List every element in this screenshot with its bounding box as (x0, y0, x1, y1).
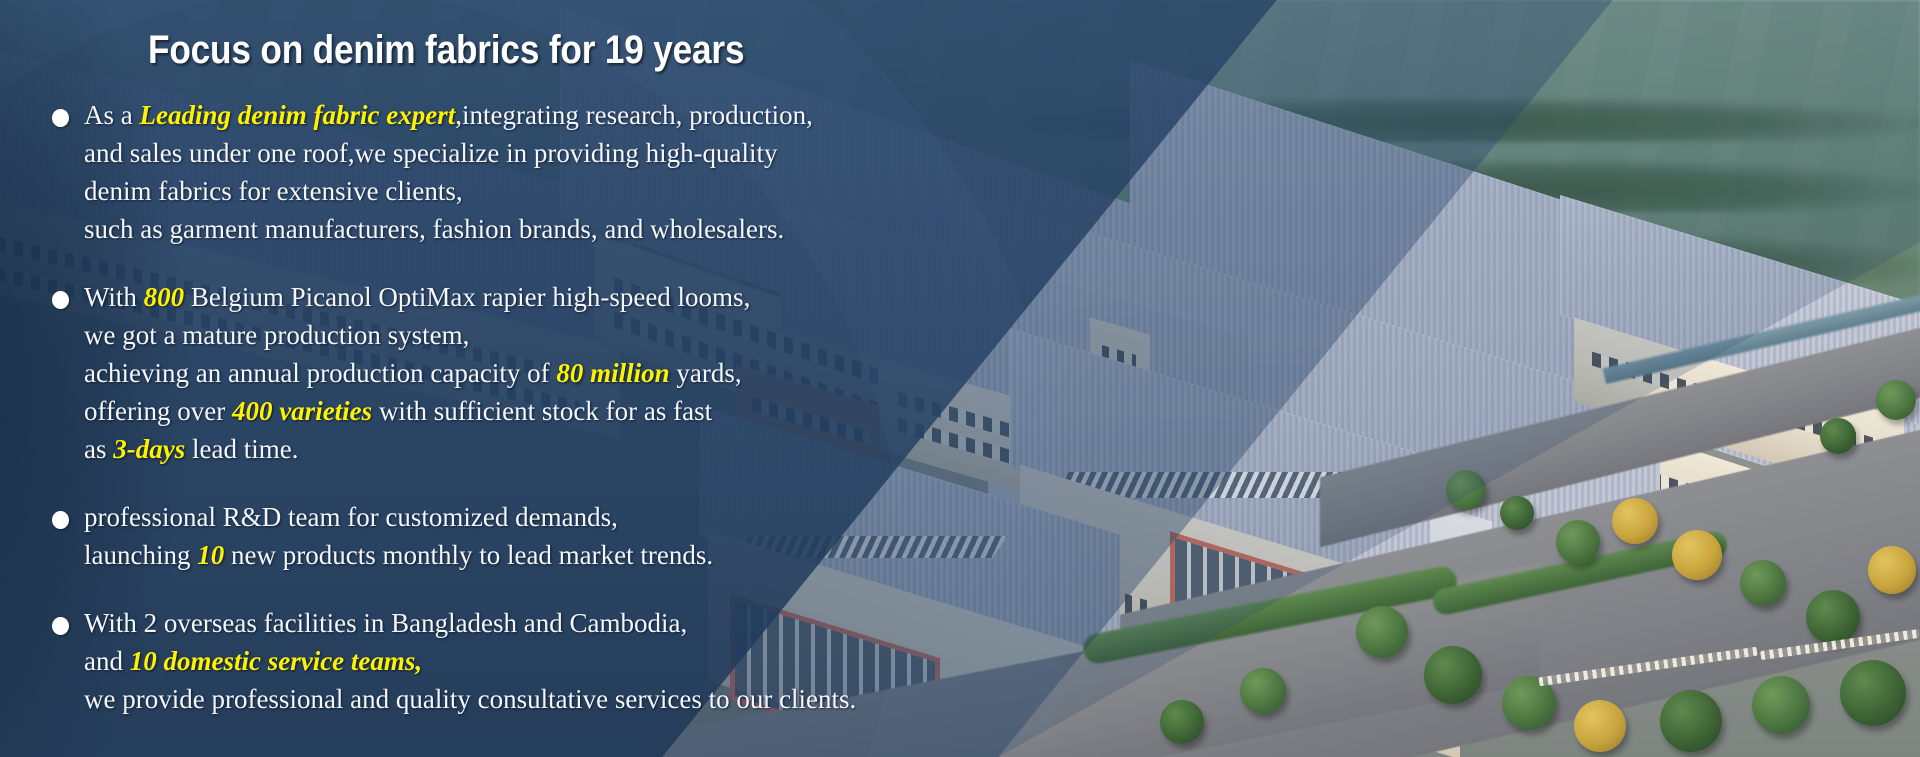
tree (1820, 418, 1856, 454)
bullet-dot-icon (52, 109, 69, 127)
body-text: professional R&D team for customized dem… (84, 502, 618, 532)
tree (1356, 606, 1408, 658)
highlight-text: 3-days (113, 434, 185, 464)
bullet-line: professional R&D team for customized dem… (84, 498, 1000, 536)
body-text: With (84, 282, 144, 312)
banner-headline: Focus on denim fabrics for 19 years (148, 28, 744, 73)
body-text: new products monthly to lead market tren… (224, 540, 713, 570)
bullet-line: denim fabrics for extensive clients, (84, 172, 1000, 210)
bullet-dot-icon (52, 291, 69, 309)
tree (1672, 530, 1722, 580)
body-text: ,integrating research, production, (455, 100, 813, 130)
body-text: lead time. (185, 434, 298, 464)
body-text: we got a mature production system, (84, 320, 469, 350)
tree (1876, 380, 1916, 420)
promo-banner: Focus on denim fabrics for 19 years As a… (0, 0, 1920, 757)
bullet-line: as 3-days lead time. (84, 430, 1000, 468)
body-text: such as garment manufacturers, fashion b… (84, 214, 784, 244)
body-text: offering over (84, 396, 232, 426)
tree (1840, 660, 1906, 726)
body-text: we provide professional and quality cons… (84, 684, 856, 714)
tree (1160, 700, 1204, 744)
banner-content: Focus on denim fabrics for 19 years As a… (0, 0, 1000, 757)
tree (1556, 520, 1600, 564)
tree (1806, 590, 1860, 644)
bullet-line: such as garment manufacturers, fashion b… (84, 210, 1000, 248)
bullet-dot-icon (52, 511, 69, 529)
tree (1424, 646, 1482, 704)
highlight-text: Leading denim fabric expert (140, 100, 456, 130)
tree (1500, 496, 1534, 530)
bullet-item: As a Leading denim fabric expert,integra… (0, 96, 1000, 248)
bullet-line: launching 10 new products monthly to lea… (84, 536, 1000, 574)
bullet-line: and sales under one roof,we specialize i… (84, 134, 1000, 172)
highlight-text: 10 (197, 540, 224, 570)
body-text: and sales under one roof,we specialize i… (84, 138, 778, 168)
tree (1868, 546, 1916, 594)
highlight-text: 800 (144, 282, 185, 312)
bullet-line: achieving an annual production capacity … (84, 354, 1000, 392)
bullet-item: professional R&D team for customized dem… (0, 498, 1000, 574)
tree (1752, 676, 1810, 734)
highlight-text: 80 million (556, 358, 669, 388)
tree (1740, 560, 1786, 606)
bullet-list: As a Leading denim fabric expert,integra… (0, 96, 1000, 748)
bullet-line: With 800 Belgium Picanol OptiMax rapier … (84, 278, 1000, 316)
body-text: as (84, 434, 113, 464)
body-text: Belgium Picanol OptiMax rapier high-spee… (184, 282, 750, 312)
tree (1240, 668, 1286, 714)
body-text: With 2 overseas facilities in Bangladesh… (84, 608, 687, 638)
bullet-line: As a Leading denim fabric expert,integra… (84, 96, 1000, 134)
body-text: achieving an annual production capacity … (84, 358, 556, 388)
bullet-item: With 800 Belgium Picanol OptiMax rapier … (0, 278, 1000, 468)
highlight-text: 10 domestic service teams, (130, 646, 422, 676)
tree (1660, 690, 1722, 752)
body-text: launching (84, 540, 197, 570)
bullet-line: we provide professional and quality cons… (84, 680, 1000, 718)
body-text: As a (84, 100, 140, 130)
body-text: and (84, 646, 130, 676)
body-text: with sufficient stock for as fast (372, 396, 712, 426)
tree (1612, 498, 1658, 544)
bullet-item: With 2 overseas facilities in Bangladesh… (0, 604, 1000, 718)
bullet-line: offering over 400 varieties with suffici… (84, 392, 1000, 430)
bullet-line: and 10 domestic service teams, (84, 642, 1000, 680)
bullet-line: With 2 overseas facilities in Bangladesh… (84, 604, 1000, 642)
bullet-line: we got a mature production system, (84, 316, 1000, 354)
highlight-text: 400 varieties (232, 396, 372, 426)
tree (1574, 700, 1626, 752)
bullet-dot-icon (52, 617, 69, 635)
body-text: denim fabrics for extensive clients, (84, 176, 463, 206)
body-text: yards, (670, 358, 742, 388)
